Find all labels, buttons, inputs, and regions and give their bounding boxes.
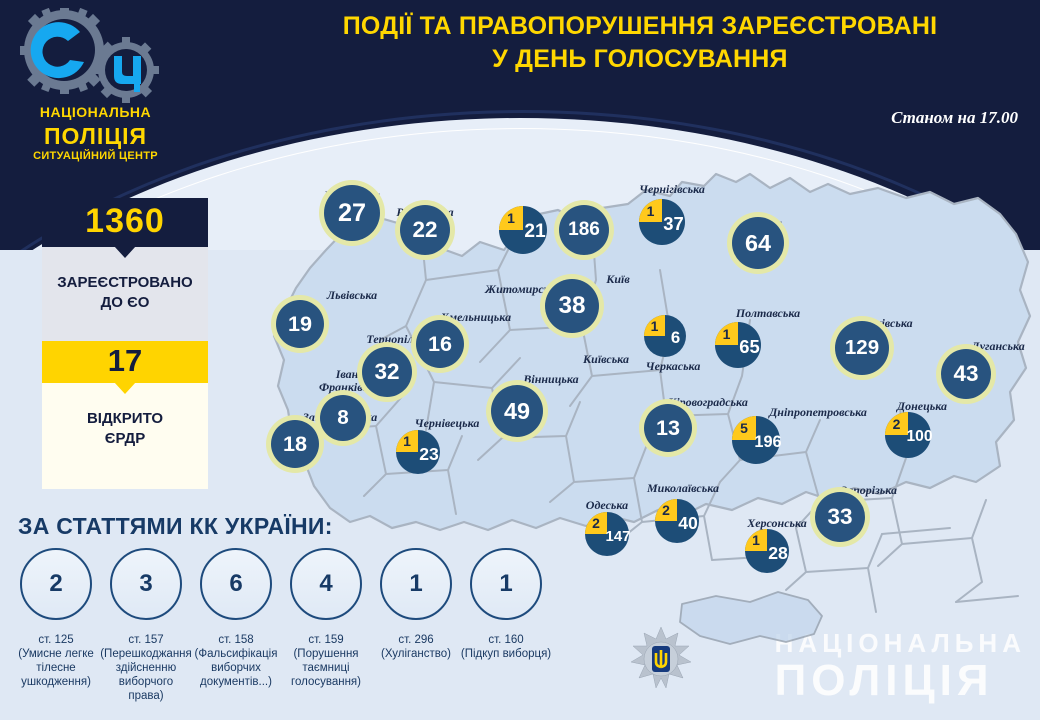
pie-registered-value: 6 [665, 331, 686, 345]
region-label-4: Чернігівська [602, 183, 742, 196]
opened-label-line1: ВІДКРИТО [48, 409, 202, 429]
logo-gears-icon [8, 8, 188, 103]
pie-registered-value: 23 [418, 447, 440, 462]
as-of-timestamp: Станом на 17.00 [891, 108, 1018, 128]
registered-label: ЗАРЕЄСТРОВАНО ДО ЄО [42, 247, 208, 341]
region-pie: 5196 [732, 416, 780, 464]
article-count: 1 [380, 548, 452, 620]
article-count: 6 [200, 548, 272, 620]
region-marker-кіровоградська[interactable]: 13 [644, 404, 692, 452]
article-description: (Хуліганство) [370, 647, 462, 661]
region-marker-житомирська[interactable]: 121 [499, 206, 547, 254]
region-value: 8 [320, 395, 366, 441]
region-label-22: Миколаївська [613, 482, 753, 495]
pie-registered-value: 100 [908, 429, 931, 445]
pie-opened-value: 1 [745, 529, 767, 551]
article-reference: ст. 160 [460, 634, 552, 647]
article-count: 4 [290, 548, 362, 620]
infographic-root: ПОДІЇ ТА ПРАВОПОРУШЕННЯ ЗАРЕЄСТРОВАНІ У … [0, 0, 1040, 720]
pie-opened-value: 1 [639, 199, 662, 222]
article-item-2[interactable]: 6ст. 158(Фальсифікація виборчих документ… [190, 548, 282, 689]
pie-registered-value: 147 [607, 529, 629, 544]
region-marker-хмельницька[interactable]: 16 [416, 320, 464, 368]
articles-row: 2ст. 125(Умисне легке тілесне ушкодження… [10, 548, 570, 718]
police-badge-icon [630, 626, 692, 692]
articles-heading: ЗА СТАТТЯМИ КК УКРАЇНИ: [18, 513, 333, 540]
article-reference: ст. 158 [190, 634, 282, 647]
region-pie: 123 [396, 430, 440, 474]
region-value: 13 [644, 404, 692, 452]
region-value: 186 [559, 205, 609, 255]
crimea-region [680, 592, 822, 644]
region-marker-івано-франківська[interactable]: 8 [320, 395, 366, 441]
pie-registered-value: 196 [756, 434, 780, 450]
region-marker-харківська[interactable]: 129 [835, 321, 889, 375]
region-value: 22 [400, 205, 450, 255]
region-marker-одеська[interactable]: 2147 [585, 512, 629, 556]
region-pie: 121 [499, 206, 547, 254]
article-description: (Порушення таємниці голосування) [280, 647, 372, 689]
pie-registered-value: 40 [677, 516, 699, 531]
logo-line-3: СИТУАЦІЙНИЙ ЦЕНТР [8, 150, 183, 162]
region-value: 33 [815, 492, 865, 542]
pie-opened-value: 5 [732, 416, 756, 440]
opened-label-line2: ЄРДР [48, 429, 202, 449]
page-title-line2: У ДЕНЬ ГОЛОСУВАННЯ [240, 43, 1040, 76]
pie-registered-value: 37 [662, 216, 685, 232]
region-value: 38 [545, 279, 599, 333]
pie-opened-value: 2 [585, 512, 607, 534]
article-count: 3 [110, 548, 182, 620]
region-value: 16 [416, 320, 464, 368]
article-description: (Підкуп виборця) [460, 647, 552, 661]
article-item-1[interactable]: 3ст. 157(Перешкоджання здійсненню виборч… [100, 548, 192, 703]
pie-registered-value: 21 [523, 224, 547, 240]
region-pie: 165 [715, 322, 761, 368]
article-description: (Умисне легке тілесне ушкодження) [10, 647, 102, 689]
article-count: 1 [470, 548, 542, 620]
region-value: 49 [491, 385, 543, 437]
region-value: 43 [941, 349, 991, 399]
region-value: 64 [732, 217, 784, 269]
pie-registered-value: 28 [767, 546, 789, 561]
article-reference: ст. 125 [10, 634, 102, 647]
region-pie: 16 [644, 315, 686, 357]
pie-opened-value: 1 [396, 430, 418, 452]
pie-opened-value: 2 [655, 499, 677, 521]
article-count: 2 [20, 548, 92, 620]
page-title-line1: ПОДІЇ ТА ПРАВОПОРУШЕННЯ ЗАРЕЄСТРОВАНІ [240, 10, 1040, 43]
region-marker-волинська[interactable]: 27 [324, 185, 380, 241]
police-situation-center-logo: НАЦІОНАЛЬНА ПОЛІЦІЯ СИТУАЦІЙНИЙ ЦЕНТР [8, 8, 188, 163]
region-pie: 137 [639, 199, 685, 245]
region-marker-вінницька[interactable]: 49 [491, 385, 543, 437]
article-description: (Перешкоджання здійсненню виборчого прав… [100, 647, 192, 703]
registered-label-line2: ДО ЄО [48, 293, 202, 313]
region-marker-сумська[interactable]: 64 [732, 217, 784, 269]
region-value: 19 [276, 300, 324, 348]
region-pie: 2147 [585, 512, 629, 556]
region-marker-тернопільська[interactable]: 32 [362, 347, 412, 397]
logo-line-2: ПОЛІЦІЯ [8, 123, 183, 150]
region-marker-чернівецька[interactable]: 123 [396, 430, 440, 474]
region-marker-рівненська[interactable]: 22 [400, 205, 450, 255]
opened-count: 17 [42, 341, 208, 383]
region-marker-миколаївська[interactable]: 240 [655, 499, 699, 543]
region-marker-луганська[interactable]: 43 [941, 349, 991, 399]
region-value: 32 [362, 347, 412, 397]
region-value: 27 [324, 185, 380, 241]
region-marker-львівська[interactable]: 19 [276, 300, 324, 348]
article-description: (Фальсифікація виборчих документів...) [190, 647, 282, 689]
region-marker-київська[interactable]: 38 [545, 279, 599, 333]
region-marker-донецька[interactable]: 2100 [885, 412, 931, 458]
pie-opened-value: 1 [715, 322, 738, 345]
region-marker-київ[interactable]: 186 [559, 205, 609, 255]
region-marker-херсонська[interactable]: 128 [745, 529, 789, 573]
article-reference: ст. 159 [280, 634, 372, 647]
region-pie: 128 [745, 529, 789, 573]
pie-opened-value: 1 [644, 315, 665, 336]
pie-opened-value: 1 [499, 206, 523, 230]
region-marker-черкаська[interactable]: 16 [644, 315, 686, 357]
region-value: 18 [271, 420, 319, 468]
region-marker-закарпатська[interactable]: 18 [271, 420, 319, 468]
summary-panel: 1360 ЗАРЕЄСТРОВАНО ДО ЄО 17 ВІДКРИТО ЄРД… [42, 198, 208, 489]
article-item-3[interactable]: 4ст. 159(Порушення таємниці голосування) [280, 548, 372, 689]
article-item-0[interactable]: 2ст. 125(Умисне легке тілесне ушкодження… [10, 548, 102, 689]
pie-registered-value: 65 [738, 339, 761, 355]
registered-count: 1360 [42, 198, 208, 247]
article-item-4[interactable]: 1ст. 296(Хуліганство) [370, 548, 462, 661]
watermark-line-2: ПОЛІЦІЯ [775, 658, 1026, 704]
region-value: 129 [835, 321, 889, 375]
region-pie: 240 [655, 499, 699, 543]
registered-label-line1: ЗАРЕЄСТРОВАНО [48, 273, 202, 293]
opened-label: ВІДКРИТО ЄРДР [42, 383, 208, 489]
region-marker-дніпропетровська[interactable]: 5196 [732, 416, 780, 464]
region-pie: 2100 [885, 412, 931, 458]
page-title: ПОДІЇ ТА ПРАВОПОРУШЕННЯ ЗАРЕЄСТРОВАНІ У … [240, 10, 1040, 76]
article-item-5[interactable]: 1ст. 160(Підкуп виборця) [460, 548, 552, 661]
logo-line-1: НАЦІОНАЛЬНА [8, 104, 183, 120]
article-reference: ст. 296 [370, 634, 462, 647]
region-marker-запорізька[interactable]: 33 [815, 492, 865, 542]
pie-opened-value: 2 [885, 412, 908, 435]
region-marker-полтавська[interactable]: 165 [715, 322, 761, 368]
article-reference: ст. 157 [100, 634, 192, 647]
region-marker-чернігівська[interactable]: 137 [639, 199, 685, 245]
